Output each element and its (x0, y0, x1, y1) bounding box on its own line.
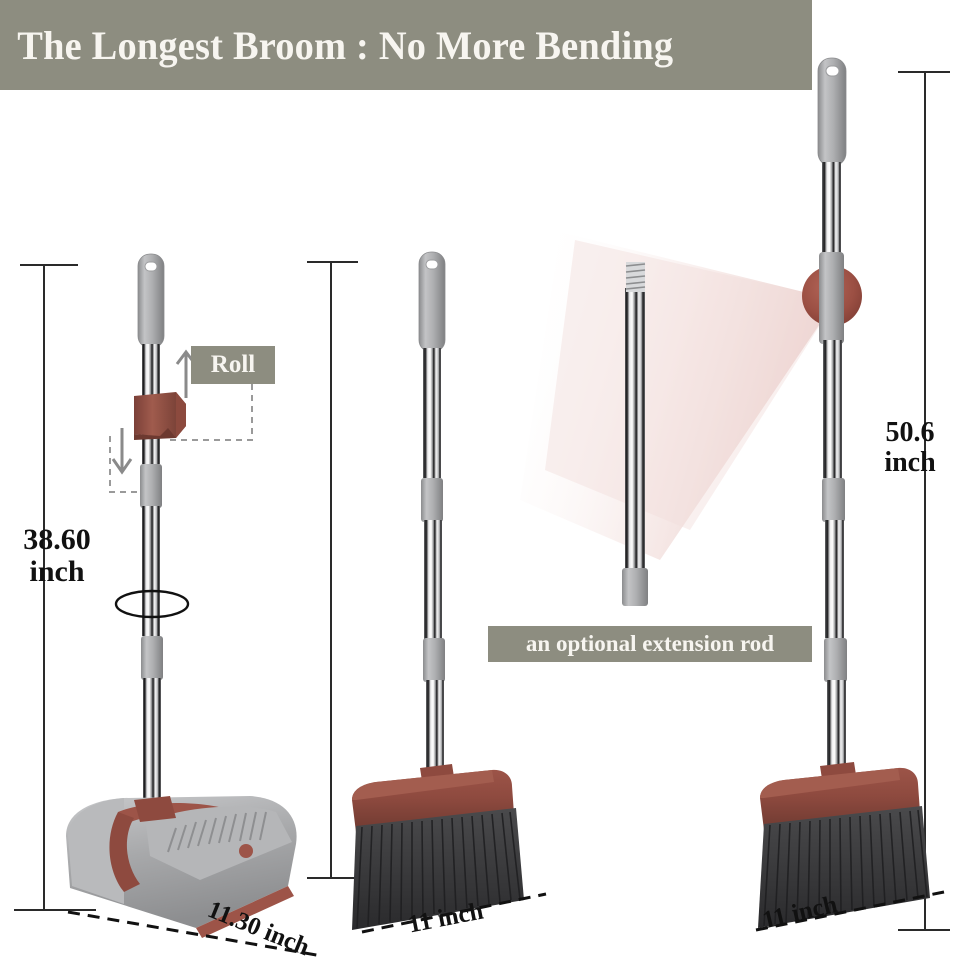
dimension-unit: inch (2, 556, 112, 588)
product-long-broom (758, 58, 930, 928)
product-extension-rod (622, 262, 648, 606)
callout-roll: Roll (191, 346, 275, 384)
dimension-value: 50.6 (864, 418, 956, 448)
product-illustration (0, 0, 957, 972)
light-beam (520, 232, 836, 560)
product-standing-broom (352, 252, 524, 930)
threaded-top (626, 262, 645, 292)
arrow-down-icon (113, 428, 131, 472)
roll-clip (134, 392, 186, 440)
dimension-label-height-left: 38.60 inch (2, 524, 112, 588)
callout-extension-rod: an optional extension rod (488, 626, 812, 662)
page-title: The Longest Broom : No More Bending (0, 22, 673, 69)
product-infographic: The Longest Broom : No More Bending Roll… (0, 0, 957, 972)
dimension-value: 38.60 (2, 524, 112, 556)
dimension-unit: inch (864, 448, 956, 478)
title-banner: The Longest Broom : No More Bending (0, 0, 812, 90)
dimension-line-center (307, 262, 358, 878)
dimension-label-height-right: 50.6 inch (864, 418, 956, 477)
